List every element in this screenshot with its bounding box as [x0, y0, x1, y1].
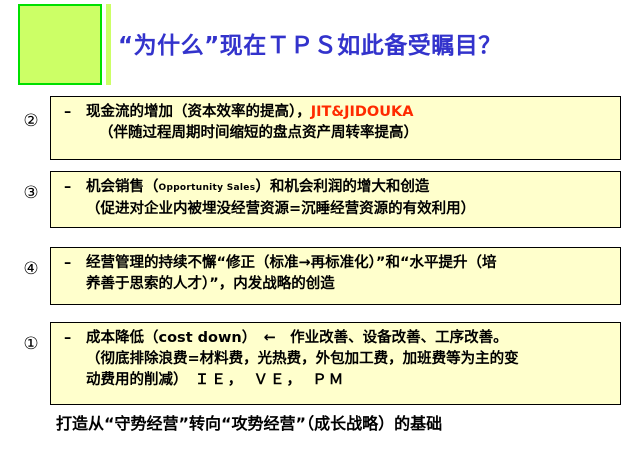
conclusion-text: 打造从“守势经营”转向“攻势经营”（成长战略）的基础 [56, 410, 634, 434]
box-1-line-1-text-a: 成本降低（ [86, 330, 159, 346]
row-marker-3: ③ [14, 183, 48, 203]
box-2-line-1-text: 现金流的增加（资本效率的提高）， [86, 104, 311, 120]
box-3-line-1: –机会销售（Opportunity Sales）和机会利润的增大和创造 [51, 177, 620, 199]
bullet-dash-2: – [64, 102, 86, 123]
logo-placeholder-box [18, 4, 102, 85]
row-marker-1: ① [14, 334, 48, 354]
box-2-accent-text: JIT&JIDOUKA [311, 104, 414, 120]
box-2-line-2: （伴随过程周期时间缩短的盘点资产周转率提高） [51, 123, 620, 144]
content-box-1: –成本降低（cost down） ← 作业改善、设备改善、工序改善。 （彻底排除… [50, 322, 621, 405]
box-1-line-2: （彻底排除浪费=材料费，光热费，外包加工费，加班费等为主的变 [51, 349, 620, 370]
box-4-line-1-text: 经营管理的持续不懈“修正（标准→再标准化）”和“水平提升（培 [86, 255, 497, 271]
box-1-latin-costdown: cost down [159, 330, 242, 346]
box-3-line-1-text-a: 机会销售 [86, 179, 144, 195]
box-3-paren-open: （ [144, 179, 159, 195]
row-marker-4: ④ [14, 259, 48, 279]
box-1-line-3-text: 动费用的削减） [86, 372, 195, 388]
box-3-paren-close: ） [255, 179, 270, 195]
box-4-line-1: –经营管理的持续不懈“修正（标准→再标准化）”和“水平提升（培 [51, 253, 620, 274]
page-title: “为什么”现在ＴＰＳ如此备受瞩目？ [118, 26, 618, 60]
box-3-line-2: （促进对企业内被埋没经营资源=沉睡经营资源的有效利用） [51, 199, 620, 220]
box-1-line-3: 动费用的削减） ＩＥ， ＶＥ， ＰＭ [51, 370, 620, 391]
content-box-2: –现金流的增加（资本效率的提高），JIT&JIDOUKA （伴随过程周期时间缩短… [50, 96, 621, 160]
bullet-dash-3: – [64, 177, 86, 198]
box-3-line-1-text-b: 和机会利润的增大和创造 [270, 179, 430, 195]
bullet-dash-4: – [64, 253, 86, 274]
box-3-latin-gloss: Opportunity Sales [159, 183, 256, 193]
content-box-3: –机会销售（Opportunity Sales）和机会利润的增大和创造 （促进对… [50, 171, 621, 228]
logo-accent-bar [106, 4, 111, 85]
box-1-line-1-text-b: ） ← 作业改善、设备改善、工序改善。 [242, 330, 508, 346]
box-4-line-2: 养善于思索的人才）”，内发战略的创造 [51, 274, 620, 295]
box-1-method-abbreviations: ＩＥ， ＶＥ， ＰＭ [195, 372, 346, 388]
row-marker-2: ② [14, 111, 48, 131]
box-2-line-1: –现金流的增加（资本效率的提高），JIT&JIDOUKA [51, 102, 620, 123]
content-box-4: –经营管理的持续不懈“修正（标准→再标准化）”和“水平提升（培 养善于思索的人才… [50, 247, 621, 305]
bullet-dash-1: – [64, 328, 86, 349]
slide-header: “为什么”现在ＴＰＳ如此备受瞩目？ [0, 0, 634, 92]
box-1-line-1: –成本降低（cost down） ← 作业改善、设备改善、工序改善。 [51, 328, 620, 349]
